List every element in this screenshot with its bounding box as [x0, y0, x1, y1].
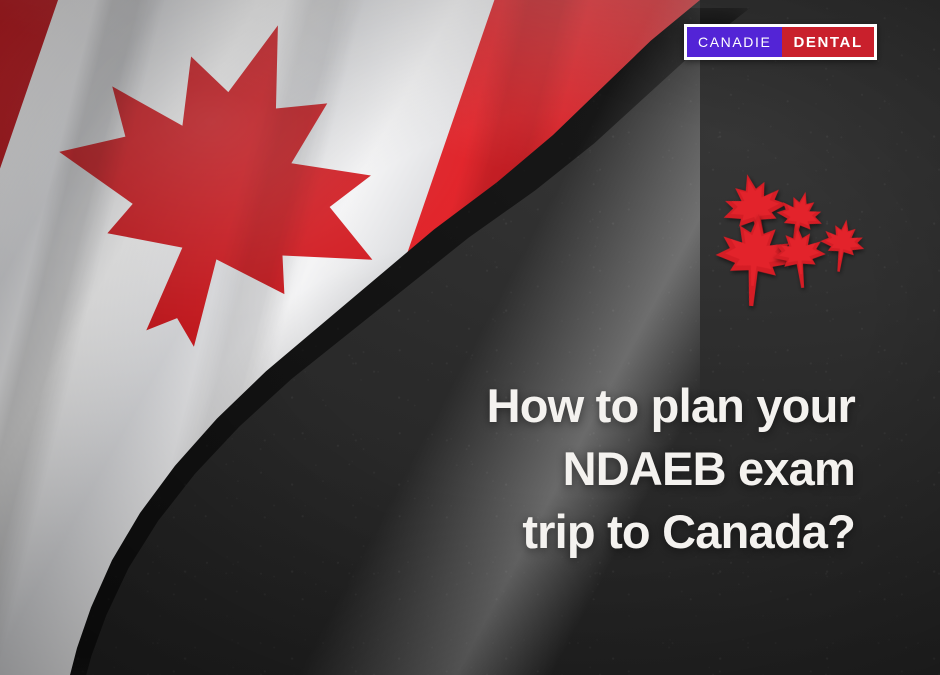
maple-leaf-icon	[814, 214, 871, 276]
page-title-line-3: trip to Canada?	[385, 500, 855, 563]
brand-logo[interactable]: CANADIE DENTAL	[684, 24, 877, 60]
page-title-line-2: NDAEB exam	[385, 437, 855, 500]
page-title: How to plan your NDAEB exam trip to Cana…	[385, 374, 855, 563]
page-title-line-1: How to plan your	[385, 374, 855, 437]
maple-leaf-cluster	[712, 172, 872, 306]
brand-logo-name-left: CANADIE	[687, 27, 782, 57]
background-vignette	[0, 0, 940, 675]
blog-banner: CANADIE DENTAL How to plan your NDAEB ex…	[0, 0, 940, 675]
brand-logo-name-right: DENTAL	[782, 27, 873, 57]
